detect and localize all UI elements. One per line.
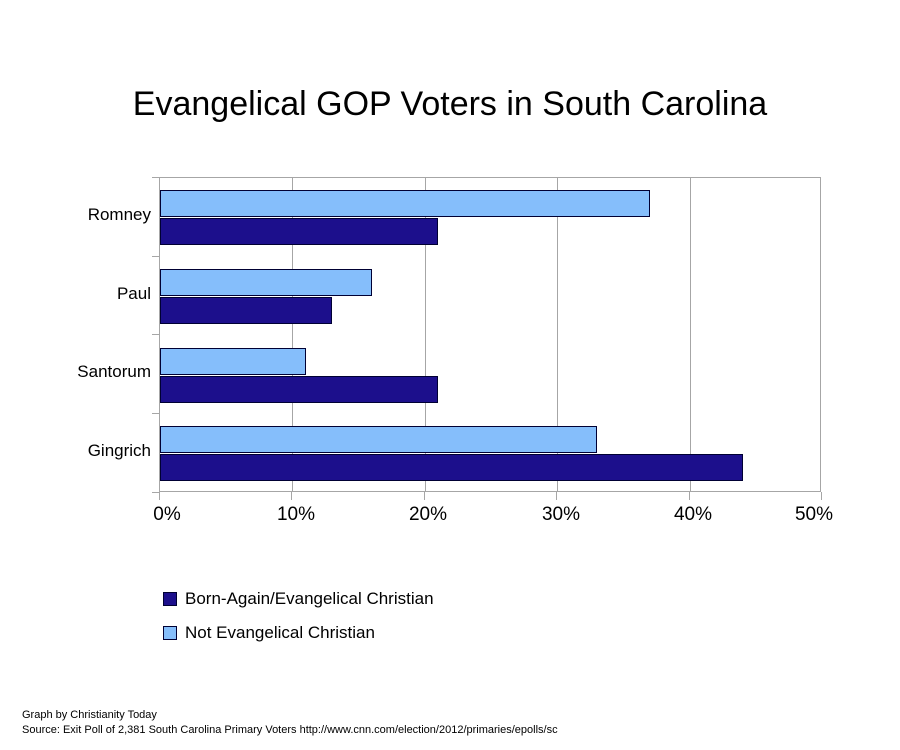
- legend-label-evangelical: Born-Again/Evangelical Christian: [185, 589, 434, 609]
- bar-santorum-evangelical[interactable]: [160, 376, 438, 403]
- legend-swatch-evangelical: [163, 592, 177, 606]
- bar-group-gingrich: [160, 414, 820, 493]
- legend-label-not-evangelical: Not Evangelical Christian: [185, 623, 375, 643]
- legend-swatch-not-evangelical: [163, 626, 177, 640]
- bar-group-romney: [160, 178, 820, 257]
- page-title: Evangelical GOP Voters in South Carolina: [0, 85, 900, 124]
- legend-item-not-evangelical[interactable]: Not Evangelical Christian: [163, 616, 683, 650]
- y-axis-label-gingrich: Gingrich: [11, 441, 151, 461]
- bar-romney-not-evangelical[interactable]: [160, 190, 650, 217]
- x-axis-tick: [159, 492, 160, 500]
- legend: Born-Again/Evangelical Christian Not Eva…: [163, 582, 683, 650]
- y-axis-label-paul: Paul: [11, 284, 151, 304]
- footer-source: Source: Exit Poll of 2,381 South Carolin…: [22, 723, 882, 738]
- x-axis-tick: [424, 492, 425, 500]
- x-axis-label-0: 0%: [122, 504, 212, 526]
- y-axis-label-santorum: Santorum: [11, 362, 151, 382]
- legend-item-evangelical[interactable]: Born-Again/Evangelical Christian: [163, 582, 683, 616]
- plot-area: [159, 177, 821, 492]
- bar-paul-not-evangelical[interactable]: [160, 269, 372, 296]
- footer: Graph by Christianity Today Source: Exit…: [22, 708, 882, 738]
- x-axis-label-50: 50%: [769, 504, 859, 526]
- bar-santorum-not-evangelical[interactable]: [160, 348, 306, 375]
- x-axis-label-20: 20%: [383, 504, 473, 526]
- x-axis-tick: [821, 492, 822, 500]
- x-axis-tick: [556, 492, 557, 500]
- y-axis-label-romney: Romney: [11, 205, 151, 225]
- bar-group-paul: [160, 257, 820, 336]
- bar-romney-evangelical[interactable]: [160, 218, 438, 245]
- x-axis-tick: [291, 492, 292, 500]
- x-axis-label-30: 30%: [516, 504, 606, 526]
- bar-gingrich-evangelical[interactable]: [160, 454, 743, 481]
- x-axis-label-40: 40%: [648, 504, 738, 526]
- x-axis-tick: [689, 492, 690, 500]
- bar-group-santorum: [160, 336, 820, 415]
- bar-paul-evangelical[interactable]: [160, 297, 332, 324]
- y-axis-labels: Romney Paul Santorum Gingrich: [8, 177, 151, 492]
- bar-gingrich-not-evangelical[interactable]: [160, 426, 597, 453]
- footer-credit: Graph by Christianity Today: [22, 708, 882, 723]
- x-axis-label-10: 10%: [251, 504, 341, 526]
